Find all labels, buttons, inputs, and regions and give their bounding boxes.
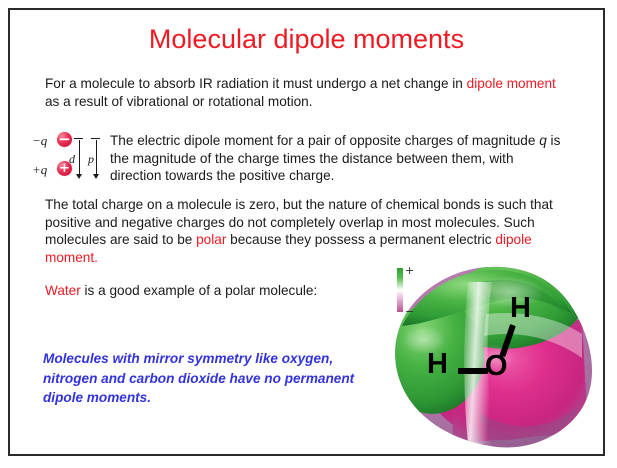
- minus-sign-glyph: −: [57, 131, 72, 147]
- esp-scale-plus-label: +: [405, 265, 414, 276]
- paragraph-dipole-definition: The electric dipole moment for a pair of…: [110, 132, 565, 185]
- water-molecule-esp-figure: + − H H O: [382, 262, 605, 454]
- water-highlight: Water: [45, 283, 81, 298]
- dipole-moment-arrow: p: [90, 138, 104, 178]
- moment-arrow-top-cap: [91, 138, 100, 139]
- distance-arrow-label: d: [69, 152, 75, 167]
- negative-charge-icon: −: [57, 132, 72, 147]
- dipoledef-symbol-q: q: [539, 133, 547, 148]
- dipole-charge-diagram: −q +q − + d p: [32, 128, 104, 186]
- distance-arrow-head-down: [76, 174, 82, 179]
- bond-oxygen-hydrogen-left: [458, 368, 488, 374]
- distance-arrow-line: [79, 140, 80, 176]
- esp-scale-minus-label: −: [405, 306, 414, 317]
- moment-arrow-head-down: [93, 174, 99, 179]
- dipoledef-text-part1: The electric dipole moment for a pair of…: [110, 133, 539, 148]
- moment-arrow-line: [96, 140, 97, 176]
- esp-color-scale-bar: [397, 268, 403, 312]
- moment-arrow-label: p: [88, 152, 94, 167]
- distance-arrow: d: [73, 138, 87, 178]
- atom-label-hydrogen-left: H: [427, 350, 448, 379]
- atom-label-oxygen: O: [485, 352, 508, 381]
- atom-label-hydrogen-top: H: [510, 294, 531, 323]
- water-text-part2: is a good example of a polar molecule:: [81, 283, 318, 298]
- page-title: Molecular dipole moments: [10, 24, 603, 55]
- intro-text-part1: For a molecule to absorb IR radiation it…: [45, 76, 467, 91]
- intro-highlight-dipole-moment: dipole moment: [467, 76, 556, 91]
- positive-charge-label: +q: [32, 162, 47, 178]
- intro-text-part2: as a result of vibrational or rotational…: [45, 94, 312, 109]
- total-text-part2: because they possess a permanent electri…: [226, 232, 495, 247]
- slide-container: Molecular dipole moments For a molecule …: [8, 8, 605, 456]
- paragraph-total-charge: The total charge on a molecule is zero, …: [45, 196, 565, 266]
- paragraph-conclusion: Molecules with mirror symmetry like oxyg…: [43, 349, 373, 408]
- total-highlight-polar: polar: [196, 232, 226, 247]
- paragraph-intro: For a molecule to absorb IR radiation it…: [45, 75, 567, 110]
- negative-charge-label: −q: [32, 133, 47, 149]
- distance-arrow-top-cap: [74, 138, 83, 139]
